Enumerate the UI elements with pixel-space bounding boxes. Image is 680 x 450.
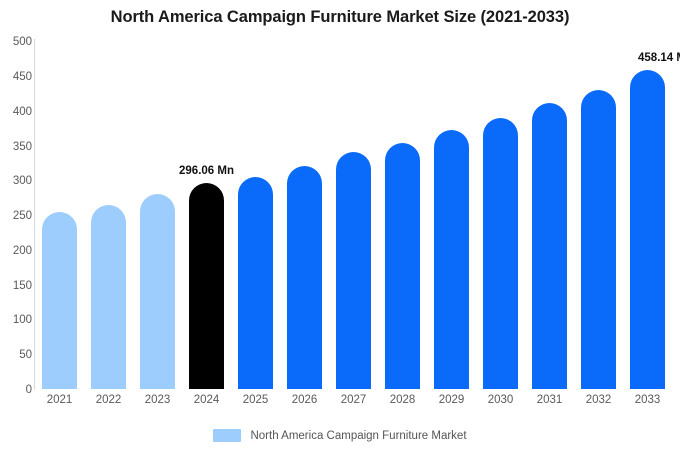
bar-slot-2033: 458.14 Mn	[623, 41, 672, 389]
x-axis-tick-2027: 2027	[329, 394, 378, 406]
bar-slot-2028	[378, 41, 427, 389]
x-axis-tick-2030: 2030	[476, 394, 525, 406]
bar-slot-2022	[84, 41, 133, 389]
bar-slot-2031	[525, 41, 574, 389]
bar-slot-2030	[476, 41, 525, 389]
bar-2030[interactable]	[483, 118, 518, 389]
x-axis-tick-2031: 2031	[525, 394, 574, 406]
bar-2027[interactable]	[336, 152, 371, 389]
bar-2029[interactable]	[434, 130, 469, 389]
x-axis-tick-2028: 2028	[378, 394, 427, 406]
bar-slot-2024: 296.06 Mn	[182, 41, 231, 389]
bar-2026[interactable]	[287, 166, 322, 389]
plot-area: 500 450 400 350 300 250 200 150 100 50 0	[0, 0, 680, 450]
bar-value-label-2033: 458.14 Mn	[638, 52, 680, 64]
y-axis-tick-150: 150	[4, 280, 32, 292]
x-axis-tick-2032: 2032	[574, 394, 623, 406]
bar-slot-2032	[574, 41, 623, 389]
legend-swatch-0[interactable]	[213, 429, 241, 442]
legend-label-0: North America Campaign Furniture Market	[250, 430, 466, 442]
x-axis-tick-2021: 2021	[35, 394, 84, 406]
x-axis-tick-2025: 2025	[231, 394, 280, 406]
bars-group: 296.06 Mn	[35, 0, 680, 450]
bar-2032[interactable]	[581, 90, 616, 389]
x-axis-tick-2033: 2033	[623, 394, 672, 406]
y-axis-tick-250: 250	[4, 210, 32, 222]
bar-2021[interactable]	[42, 212, 77, 389]
y-axis-tick-100: 100	[4, 314, 32, 326]
y-axis-tick-450: 450	[4, 71, 32, 83]
chart-legend: North America Campaign Furniture Market	[0, 429, 680, 442]
y-axis-tick-50: 50	[4, 349, 32, 361]
bar-2031[interactable]	[532, 103, 567, 389]
x-axis-tick-2029: 2029	[427, 394, 476, 406]
x-axis-tick-2026: 2026	[280, 394, 329, 406]
bar-value-label-2024: 296.06 Mn	[179, 165, 234, 177]
x-axis-tick-2023: 2023	[133, 394, 182, 406]
bar-slot-2027	[329, 41, 378, 389]
x-axis-tick-2022: 2022	[84, 394, 133, 406]
chart-container: North America Campaign Furniture Market …	[0, 0, 680, 450]
bar-slot-2029	[427, 41, 476, 389]
bar-slot-2026	[280, 41, 329, 389]
bar-2028[interactable]	[385, 143, 420, 389]
bar-2024[interactable]: 296.06 Mn	[189, 183, 224, 389]
y-axis-tick-200: 200	[4, 245, 32, 257]
y-axis-tick-400: 400	[4, 106, 32, 118]
y-axis-tick-500: 500	[4, 36, 32, 48]
bar-slot-2025	[231, 41, 280, 389]
bar-2025[interactable]	[238, 177, 273, 389]
y-axis-tick-300: 300	[4, 175, 32, 187]
bar-slot-2023	[133, 41, 182, 389]
x-axis-tick-2024: 2024	[182, 394, 231, 406]
bar-2033[interactable]: 458.14 Mn	[630, 70, 665, 389]
bar-2022[interactable]	[91, 205, 126, 389]
y-axis-tick-350: 350	[4, 141, 32, 153]
y-axis-tick-0: 0	[4, 384, 32, 396]
bar-2023[interactable]	[140, 194, 175, 389]
bar-slot-2021	[35, 41, 84, 389]
y-axis-tick-labels: 500 450 400 350 300 250 200 150 100 50 0	[0, 0, 32, 450]
